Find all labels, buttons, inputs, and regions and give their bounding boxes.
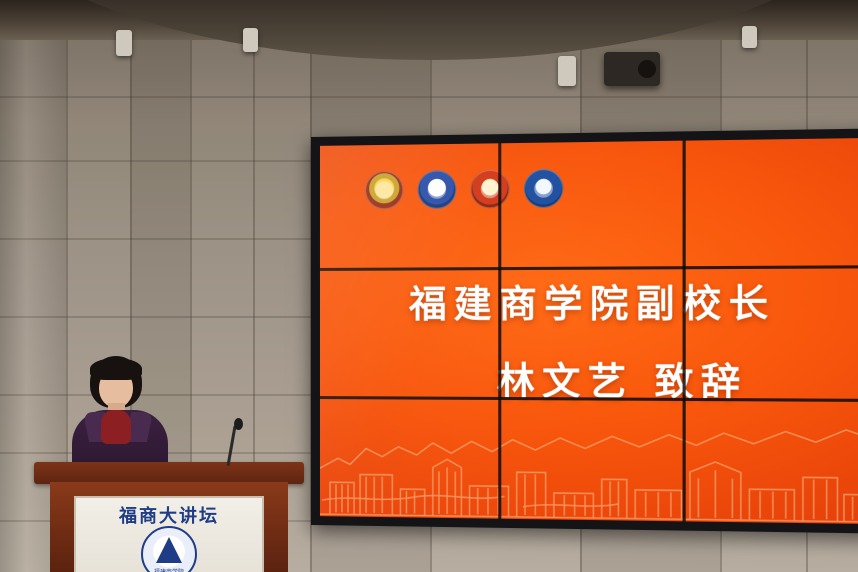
ceiling-spotlight-icon xyxy=(558,56,576,86)
led-panel-seam xyxy=(498,143,501,518)
led-panel-seam xyxy=(320,265,858,271)
led-headline-line1: 福建商学院副校长 xyxy=(320,272,858,328)
speaker-hair-fringe xyxy=(90,358,142,380)
led-panel-seam xyxy=(683,141,686,522)
photo-scene: 福建商学院副校长 林文艺 致辞 福商大讲坛 福建商学院 xyxy=(0,0,858,572)
emblem-blue-dark-icon xyxy=(524,169,563,208)
emblem-shape xyxy=(156,537,182,563)
university-emblem-icon: 福建商学院 xyxy=(141,526,197,572)
lectern-title: 福商大讲坛 xyxy=(74,502,264,528)
emblem-label: 福建商学院 xyxy=(143,567,195,572)
emblem-red-gold-icon xyxy=(471,170,510,209)
ceiling-spotlight-icon xyxy=(243,28,258,52)
speaker-scarf xyxy=(101,410,131,444)
microphone-head-icon xyxy=(234,418,243,430)
emblem-inner xyxy=(375,181,393,199)
ceiling-spotlight-icon xyxy=(116,30,132,56)
wall-seam xyxy=(0,96,858,98)
emblem-inner xyxy=(535,179,553,197)
led-logo-row xyxy=(365,169,563,210)
lectern-top xyxy=(34,462,304,484)
ceiling-spotlight-icon xyxy=(742,26,757,48)
led-video-wall: 福建商学院副校长 林文艺 致辞 xyxy=(311,128,858,533)
emblem-inner xyxy=(428,181,446,199)
lectern: 福商大讲坛 福建商学院 xyxy=(34,462,304,572)
lectern-front-panel: 福商大讲坛 福建商学院 xyxy=(74,496,264,572)
emblem-inner xyxy=(481,180,499,198)
projector-lens-icon xyxy=(638,60,656,78)
emblem-gold-red-icon xyxy=(365,171,403,210)
campus-skyline-artwork xyxy=(320,396,858,524)
led-screen: 福建商学院副校长 林文艺 致辞 xyxy=(320,138,858,524)
emblem-blue-white-icon xyxy=(418,170,457,209)
